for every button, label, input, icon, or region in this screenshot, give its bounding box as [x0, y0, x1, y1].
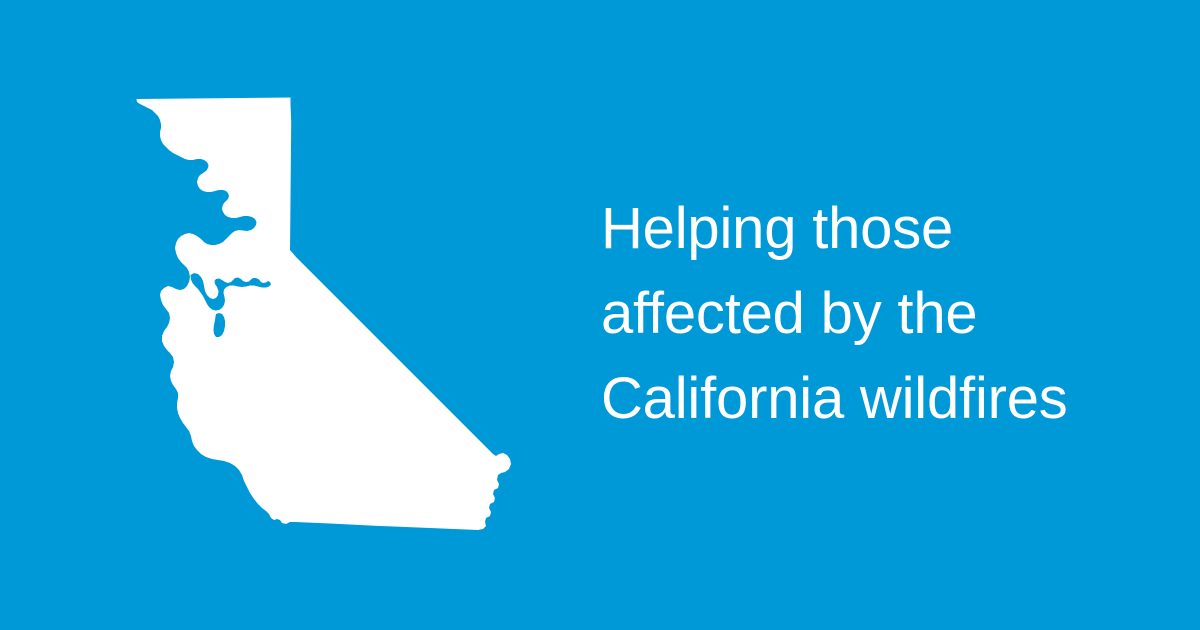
- headline-block: Helping those affected by the California…: [601, 186, 1161, 441]
- headline-line-1: Helping those: [601, 186, 1161, 271]
- headline-line-3: California wildfires: [601, 356, 1161, 441]
- banner-canvas: Helping those affected by the California…: [0, 0, 1200, 630]
- headline-line-2: affected by the: [601, 271, 1161, 356]
- california-state-map-icon: [130, 92, 530, 540]
- california-map-container: [130, 92, 530, 540]
